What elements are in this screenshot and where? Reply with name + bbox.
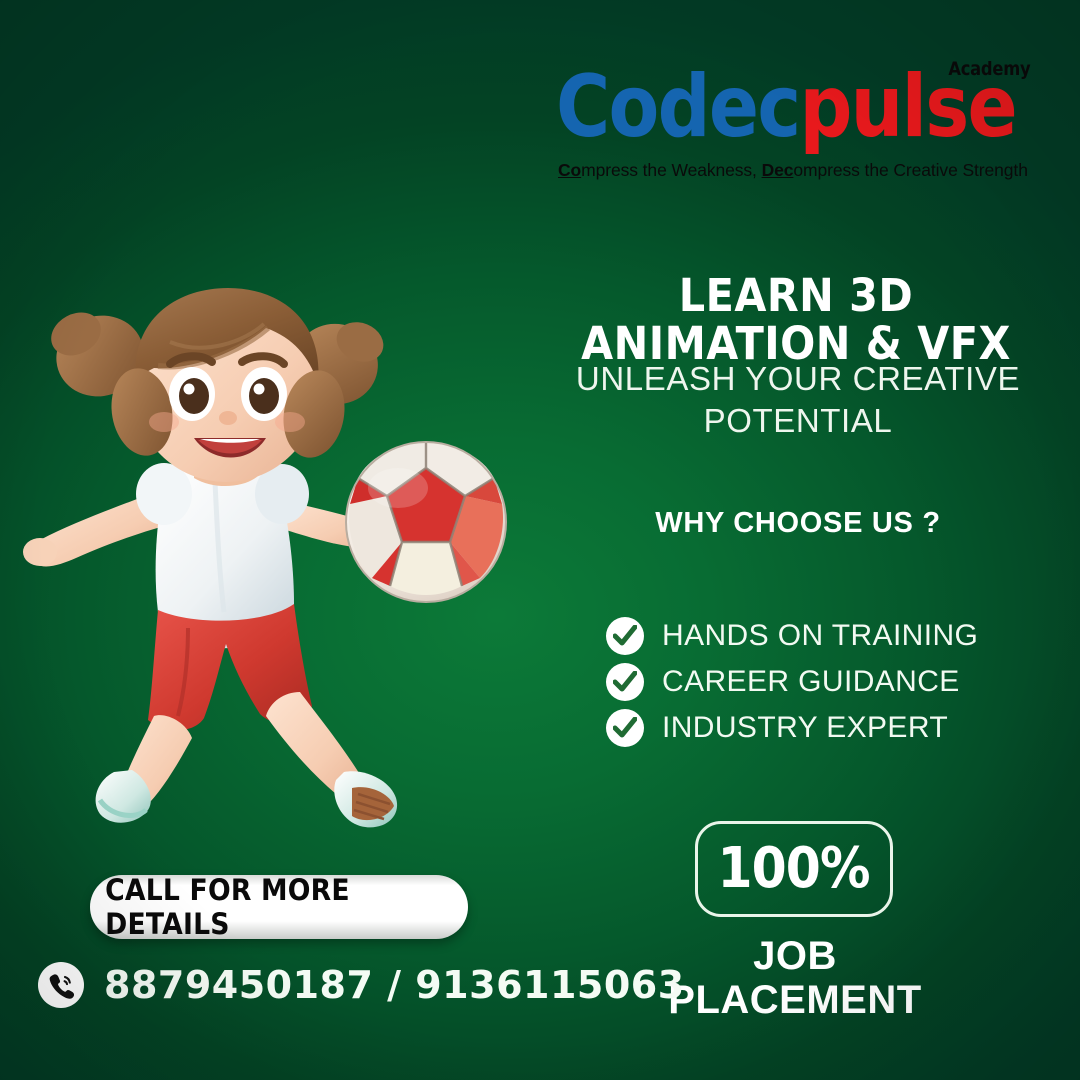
- check-circle-icon: [606, 663, 644, 701]
- tagline-text-2: ompress the Creative Strength: [793, 160, 1027, 180]
- check-circle-icon: [606, 617, 644, 655]
- logo-tagline: Compress the Weakness, Decompress the Cr…: [558, 160, 1028, 181]
- contact-phone-row[interactable]: 8879450187 / 9136115063: [38, 962, 685, 1008]
- logo-word-codec: Codec: [556, 57, 799, 157]
- placement-caption: JOB PLACEMENT: [640, 934, 950, 1022]
- list-item: INDUSTRY EXPERT: [606, 705, 1046, 751]
- list-item-label: INDUSTRY EXPERT: [662, 711, 948, 745]
- list-item: HANDS ON TRAINING: [606, 613, 1046, 659]
- list-item-label: HANDS ON TRAINING: [662, 619, 978, 653]
- brand-logo: Codecpulse Academy Compress the Weakness…: [556, 56, 1036, 184]
- placement-percentage-value: 100%: [718, 841, 870, 897]
- girl-with-soccer-ball-illustration: [18, 272, 548, 852]
- tagline-text-1: mpress the Weakness,: [581, 160, 761, 180]
- tagline-emphasis-co: Co: [558, 160, 581, 180]
- logo-wordmark: Codecpulse: [556, 64, 969, 150]
- logo-academy-label: Academy: [948, 58, 1030, 80]
- tagline-emphasis-dec: Dec: [762, 160, 794, 180]
- placement-percentage-badge: 100%: [695, 821, 893, 917]
- contact-phone-numbers: 8879450187 / 9136115063: [104, 963, 685, 1007]
- placement-caption-line1: JOB: [640, 934, 950, 978]
- check-circle-icon: [606, 709, 644, 747]
- promo-poster: Codecpulse Academy Compress the Weakness…: [0, 0, 1080, 1080]
- why-choose-us-heading: WHY CHOOSE US ?: [548, 506, 1048, 540]
- placement-caption-line2: PLACEMENT: [640, 978, 950, 1022]
- call-for-details-label: CALL FOR MORE DETAILS: [105, 873, 453, 941]
- benefits-list: HANDS ON TRAINING CAREER GUIDANCE INDUST…: [606, 613, 1046, 751]
- page-subtitle: UNLEASH YOUR CREATIVE POTENTIAL: [548, 358, 1048, 442]
- phone-call-icon: [38, 962, 84, 1008]
- page-title: LEARN 3D ANIMATION & VFX: [549, 272, 1042, 368]
- list-item-label: CAREER GUIDANCE: [662, 665, 960, 699]
- call-for-details-button[interactable]: CALL FOR MORE DETAILS: [90, 875, 468, 939]
- list-item: CAREER GUIDANCE: [606, 659, 1046, 705]
